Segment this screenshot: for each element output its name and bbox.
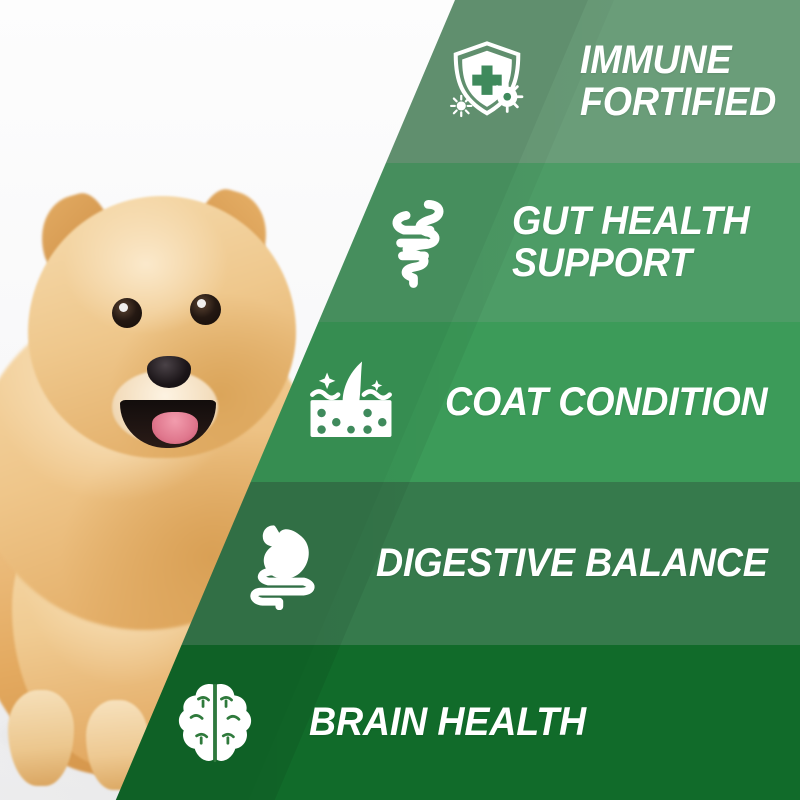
hair-follicle-skin-icon: [305, 356, 397, 448]
band-label-digestive-balance: DIGESTIVE BALANCE: [376, 542, 800, 584]
band-label-brain-health: BRAIN HEALTH: [309, 701, 800, 743]
benefit-band-stack: IMMUNE FORTIFIEDGUT HEALTH SUPPORTCOAT C…: [0, 0, 800, 800]
benefit-band-immune-fortified[interactable]: IMMUNE FORTIFIED: [0, 0, 800, 163]
benefit-band-brain-health[interactable]: BRAIN HEALTH: [0, 645, 800, 800]
benefit-band-coat-condition[interactable]: COAT CONDITION: [0, 322, 800, 482]
band-label-gut-health-support: GUT HEALTH SUPPORT: [512, 200, 800, 285]
benefit-band-digestive-balance[interactable]: DIGESTIVE BALANCE: [0, 482, 800, 645]
shield-plus-virus-icon: [441, 36, 533, 128]
infographic-canvas: IMMUNE FORTIFIEDGUT HEALTH SUPPORTCOAT C…: [0, 0, 800, 800]
stomach-intestine-icon: [237, 518, 329, 610]
benefit-band-gut-health-support[interactable]: GUT HEALTH SUPPORT: [0, 163, 800, 322]
band-label-coat-condition: COAT CONDITION: [445, 381, 800, 423]
intestine-icon: [373, 197, 465, 289]
brain-icon: [169, 677, 261, 769]
band-label-immune-fortified: IMMUNE FORTIFIED: [580, 39, 800, 124]
